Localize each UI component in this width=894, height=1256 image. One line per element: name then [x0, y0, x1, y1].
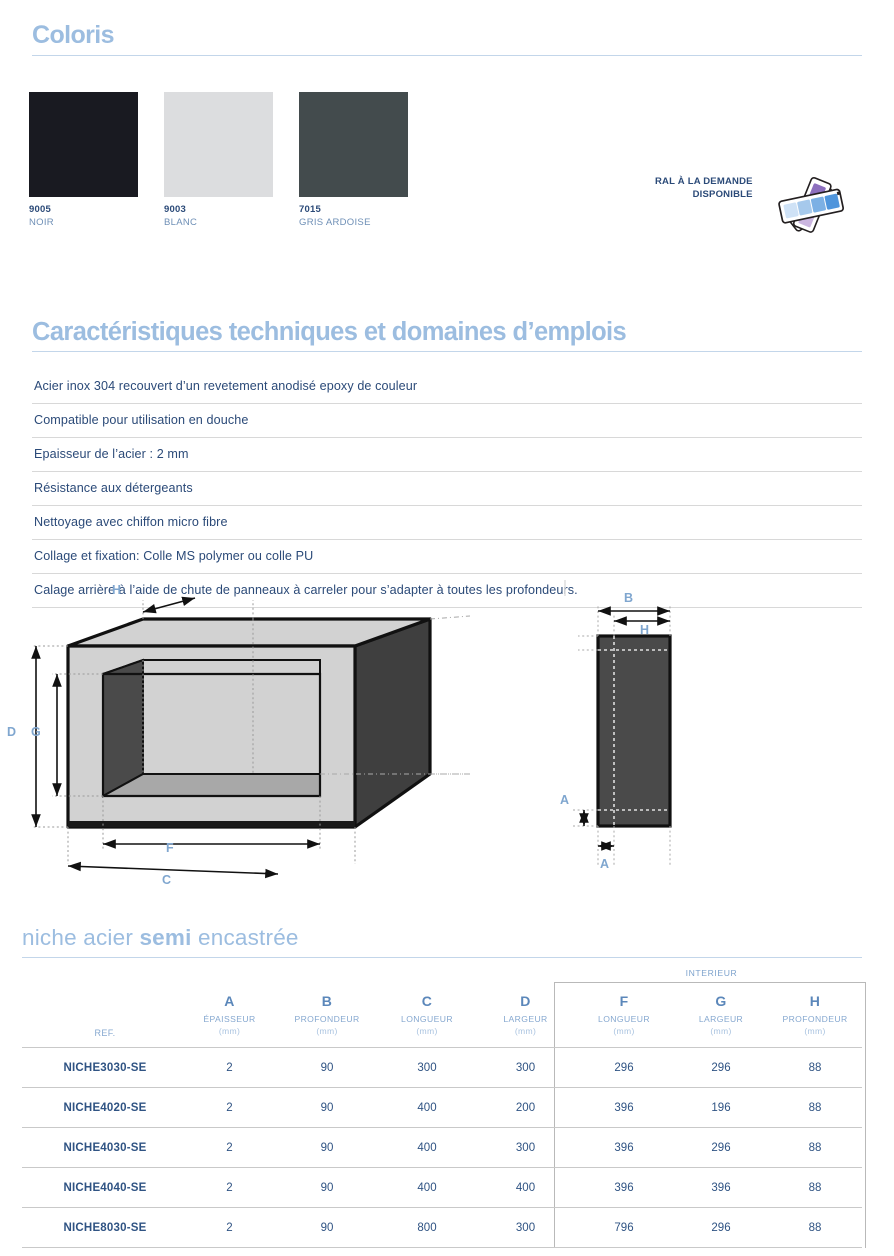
- column-header-d: D LARGEUR (mm): [477, 983, 574, 1047]
- cell-h: 88: [768, 1127, 862, 1167]
- cell-f: 396: [574, 1087, 674, 1127]
- cell-g: 296: [674, 1207, 768, 1247]
- color-swatch-9003[interactable]: 9003 BLANC: [164, 92, 273, 228]
- cell-g: 296: [674, 1127, 768, 1167]
- cell-f: 296: [574, 1047, 674, 1087]
- page-title-coloris: Coloris: [32, 22, 862, 50]
- cell-b: 90: [277, 1207, 377, 1247]
- title-post: encastrée: [192, 925, 299, 950]
- col-unit: (mm): [674, 1025, 768, 1037]
- cell-g: 296: [674, 1047, 768, 1087]
- cell-ref: NICHE4040-SE: [22, 1167, 182, 1207]
- swatch-code: 9003: [164, 204, 273, 215]
- column-header-c: C LONGUEUR (mm): [377, 983, 477, 1047]
- cell-a: 2: [182, 1127, 277, 1167]
- ral-line-2: DISPONIBLE: [655, 189, 753, 202]
- cell-c: 800: [377, 1207, 477, 1247]
- title-bold: semi: [139, 925, 191, 950]
- cell-c: 300: [377, 1047, 477, 1087]
- color-fan-icon: [760, 166, 855, 257]
- heading-divider: [32, 55, 862, 56]
- col-name: ÉPAISSEUR: [182, 1013, 277, 1025]
- dim-label-F: F: [166, 841, 174, 855]
- dim-label-A-left: A: [560, 793, 569, 807]
- col-letter: F: [574, 993, 674, 1009]
- col-letter: B: [277, 993, 377, 1009]
- col-letter: G: [674, 993, 768, 1009]
- col-name: LARGEUR: [674, 1013, 768, 1025]
- color-swatch-7015[interactable]: 7015 GRIS ARDOISE: [299, 92, 408, 228]
- cell-h: 88: [768, 1167, 862, 1207]
- col-unit: (mm): [277, 1025, 377, 1037]
- col-name: LONGUEUR: [574, 1013, 674, 1025]
- color-chip: [164, 92, 273, 197]
- cell-ref: NICHE4020-SE: [22, 1087, 182, 1127]
- table-row[interactable]: NICHE8030-SE 2 90 800 300 796 296 88: [22, 1207, 862, 1247]
- ral-line-1: RAL À LA DEMANDE: [655, 176, 753, 189]
- col-name: LARGEUR: [477, 1013, 574, 1025]
- color-swatch-list: 9005 NOIR 9003 BLANC 7015 GRIS ARDOISE: [29, 92, 408, 228]
- col-unit: (mm): [574, 1025, 674, 1037]
- color-chip: [299, 92, 408, 197]
- col-letter: C: [377, 993, 477, 1009]
- col-unit: (mm): [377, 1025, 477, 1037]
- cell-g: 396: [674, 1167, 768, 1207]
- column-header-b: B PROFONDEUR (mm): [277, 983, 377, 1047]
- dim-label-H-side: H: [640, 623, 649, 637]
- list-item: Collage et fixation: Colle MS polymer ou…: [32, 540, 862, 574]
- column-group-label-interieur: INTERIEUR: [559, 968, 864, 978]
- list-item: Compatible pour utilisation en douche: [32, 404, 862, 438]
- cell-d: 300: [477, 1207, 574, 1247]
- table-row[interactable]: NICHE4030-SE 2 90 400 300 396 296 88: [22, 1127, 862, 1167]
- col-unit: (mm): [768, 1025, 862, 1037]
- page-title-product: niche acier semi encastrée: [22, 926, 862, 951]
- spec-table-area: INTERIEUR REF. A ÉPAISSEUR (mm) B PROFON…: [22, 965, 862, 1248]
- swatch-name: BLANC: [164, 217, 273, 228]
- cell-a: 2: [182, 1167, 277, 1207]
- list-item: Epaisseur de l’acier : 2 mm: [32, 438, 862, 472]
- cell-c: 400: [377, 1127, 477, 1167]
- dim-label-H-iso: H: [112, 583, 121, 597]
- col-letter: D: [477, 993, 574, 1009]
- dim-label-D: D: [7, 725, 16, 739]
- column-header-a: A ÉPAISSEUR (mm): [182, 983, 277, 1047]
- table-row[interactable]: NICHE3030-SE 2 90 300 300 296 296 88: [22, 1047, 862, 1087]
- cell-h: 88: [768, 1047, 862, 1087]
- dim-label-A-bottom: A: [600, 857, 609, 871]
- cell-d: 300: [477, 1047, 574, 1087]
- cell-d: 300: [477, 1127, 574, 1167]
- col-unit: (mm): [182, 1025, 277, 1037]
- col-unit: (mm): [477, 1025, 574, 1037]
- cell-f: 396: [574, 1127, 674, 1167]
- coloris-section-header: Coloris: [32, 22, 862, 56]
- cell-b: 90: [277, 1047, 377, 1087]
- col-name: PROFONDEUR: [768, 1013, 862, 1025]
- col-name: LONGUEUR: [377, 1013, 477, 1025]
- heading-divider: [22, 957, 862, 958]
- product-section-header: niche acier semi encastrée: [22, 926, 862, 958]
- cell-b: 90: [277, 1087, 377, 1127]
- cell-a: 2: [182, 1047, 277, 1087]
- heading-divider: [32, 351, 862, 352]
- color-chip: [29, 92, 138, 197]
- cell-g: 196: [674, 1087, 768, 1127]
- cell-h: 88: [768, 1207, 862, 1247]
- table-row[interactable]: NICHE4020-SE 2 90 400 200 396 196 88: [22, 1087, 862, 1127]
- cell-c: 400: [377, 1167, 477, 1207]
- dim-label-B: B: [624, 591, 633, 605]
- ral-on-demand-block: RAL À LA DEMANDE DISPONIBLE: [655, 166, 855, 257]
- cell-c: 400: [377, 1087, 477, 1127]
- cell-h: 88: [768, 1087, 862, 1127]
- col-letter: A: [182, 993, 277, 1009]
- cell-b: 90: [277, 1167, 377, 1207]
- dim-label-G: G: [31, 725, 41, 739]
- color-swatch-9005[interactable]: 9005 NOIR: [29, 92, 138, 228]
- column-header-ref: REF.: [22, 983, 182, 1047]
- cell-d: 200: [477, 1087, 574, 1127]
- table-header-row: REF. A ÉPAISSEUR (mm) B PROFONDEUR (mm) …: [22, 983, 862, 1047]
- cell-a: 2: [182, 1207, 277, 1247]
- table-row[interactable]: NICHE4040-SE 2 90 400 400 396 396 88: [22, 1167, 862, 1207]
- cell-f: 796: [574, 1207, 674, 1247]
- cell-ref: NICHE4030-SE: [22, 1127, 182, 1167]
- col-letter: H: [768, 993, 862, 1009]
- cell-ref: NICHE8030-SE: [22, 1207, 182, 1247]
- cell-ref: NICHE3030-SE: [22, 1047, 182, 1087]
- swatch-name: NOIR: [29, 217, 138, 228]
- swatch-code: 7015: [299, 204, 408, 215]
- technical-drawing: H D G F C: [0, 578, 894, 908]
- cell-a: 2: [182, 1087, 277, 1127]
- swatch-code: 9005: [29, 204, 138, 215]
- ral-text: RAL À LA DEMANDE DISPONIBLE: [655, 166, 753, 202]
- cell-f: 396: [574, 1167, 674, 1207]
- dim-label-C: C: [162, 873, 171, 887]
- feature-list: Acier inox 304 recouvert d’un revetement…: [32, 370, 862, 608]
- list-item: Acier inox 304 recouvert d’un revetement…: [32, 370, 862, 404]
- caracteristiques-section-header: Caractéristiques techniques et domaines …: [32, 318, 862, 352]
- column-header-f: F LONGUEUR (mm): [574, 983, 674, 1047]
- list-item: Résistance aux détergeants: [32, 472, 862, 506]
- column-header-h: H PROFONDEUR (mm): [768, 983, 862, 1047]
- cell-b: 90: [277, 1127, 377, 1167]
- col-name: PROFONDEUR: [277, 1013, 377, 1025]
- page-title-caracteristiques: Caractéristiques techniques et domaines …: [32, 318, 862, 346]
- swatch-name: GRIS ARDOISE: [299, 217, 408, 228]
- title-pre: niche acier: [22, 925, 139, 950]
- column-header-g: G LARGEUR (mm): [674, 983, 768, 1047]
- cell-d: 400: [477, 1167, 574, 1207]
- list-item: Nettoyage avec chiffon micro fibre: [32, 506, 862, 540]
- spec-table: REF. A ÉPAISSEUR (mm) B PROFONDEUR (mm) …: [22, 983, 862, 1248]
